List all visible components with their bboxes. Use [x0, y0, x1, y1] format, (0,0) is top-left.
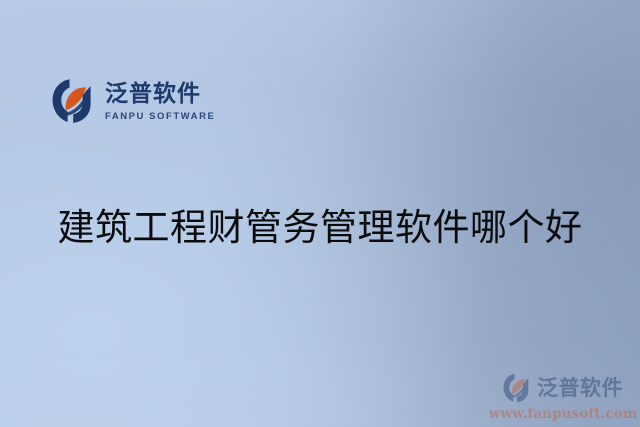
- brand-name-en: FANPU SOFTWARE: [105, 111, 215, 122]
- page-title: 建筑工程财管务管理软件哪个好: [0, 203, 640, 253]
- brand-text-block: 泛普软件 FANPU SOFTWARE: [105, 80, 215, 121]
- watermark: 泛普软件 www.fanpusoft.com: [494, 373, 632, 422]
- brand-logo: 泛普软件 FANPU SOFTWARE: [52, 78, 215, 124]
- fanpu-logo-watermark-icon: [503, 373, 532, 403]
- watermark-name-cn: 泛普软件: [537, 378, 623, 399]
- poster-canvas: 泛普软件 FANPU SOFTWARE 建筑工程财管务管理软件哪个好 泛普软件 …: [0, 0, 640, 427]
- watermark-logo-row: 泛普软件: [503, 373, 623, 403]
- watermark-url: www.fanpusoft.com: [489, 406, 637, 422]
- fanpu-logo-icon: [52, 78, 96, 124]
- brand-name-cn: 泛普软件: [105, 82, 215, 106]
